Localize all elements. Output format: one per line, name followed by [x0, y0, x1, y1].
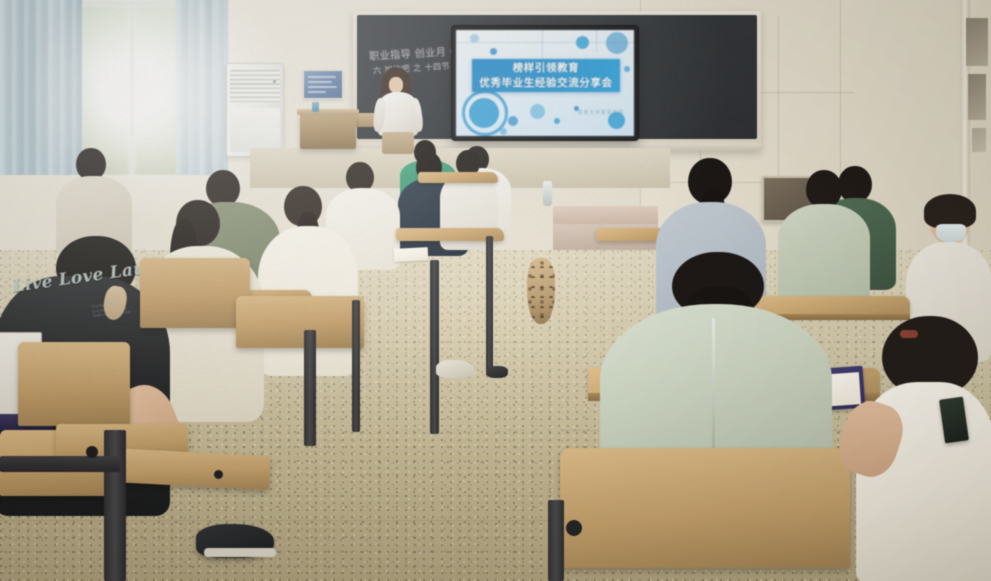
slide-title-line-1: 榜样引领教育	[513, 61, 580, 76]
projection-screen[interactable]: 榜样引领教育 优秀毕业生经验交流分享会 某某大学某某学院	[452, 26, 638, 140]
slide-title-banner: 榜样引领教育 优秀毕业生经验交流分享会	[472, 59, 620, 92]
foreground-student-far-right	[856, 282, 991, 581]
curtain-right	[200, 0, 228, 175]
slide-decor-dot	[469, 98, 499, 128]
seat-back-left-1[interactable]	[18, 342, 130, 426]
slide-title-line-2: 优秀毕业生经验交流分享会	[479, 76, 612, 91]
slide-decor-dot	[530, 104, 545, 119]
leopard-print-backpack[interactable]	[527, 258, 555, 324]
door-panel-upper	[966, 18, 988, 66]
hair-top	[924, 194, 976, 228]
side-counter-top	[553, 206, 658, 226]
desk-tablet-arm[interactable]	[418, 172, 498, 183]
podium	[300, 113, 356, 149]
shoe-sole	[204, 548, 276, 557]
slide-decor-dot	[554, 118, 560, 124]
air-conditioner-unit	[226, 63, 284, 157]
door-handle-plate	[972, 128, 986, 152]
seat-bolt	[86, 446, 98, 458]
slide-decor-dot	[508, 116, 518, 126]
face-mask	[936, 224, 966, 242]
slide-decor-dot	[576, 36, 589, 49]
slide-decor-dot	[624, 66, 630, 72]
classroom-photo: 职业指导 创业月 GG 六 加油吧 之 十四节 榜样引领教育	[0, 0, 991, 581]
seat-back-front-right[interactable]	[560, 448, 850, 568]
slide-credit-text: 某某大学某某学院	[578, 109, 624, 116]
ac-vents-icon	[230, 70, 280, 102]
podium-top	[297, 109, 359, 115]
seat-bolt	[566, 520, 582, 536]
shoe-white	[436, 360, 474, 378]
slide-decor-dot	[490, 48, 497, 55]
water-bottle[interactable]	[543, 181, 552, 206]
seat-bolt	[214, 470, 223, 479]
shoe-dark	[486, 366, 508, 378]
slide-decor-dot	[500, 128, 507, 135]
speaker-face	[389, 77, 403, 93]
papers-on-desk[interactable]	[394, 247, 429, 262]
seat-back-mid-1[interactable]	[140, 258, 250, 328]
slide-decor-dot	[470, 34, 479, 43]
seat-back-mid-2[interactable]	[236, 296, 364, 348]
water-cup	[312, 102, 319, 112]
door-panel-lower	[968, 74, 986, 120]
ac-panel	[230, 108, 280, 152]
wall-notice-poster	[303, 70, 343, 99]
ac-indicator-light	[273, 80, 276, 83]
presentation-slide: 榜样引领教育 优秀毕业生经验交流分享会 某某大学某某学院	[456, 30, 634, 136]
slide-decor-dot	[606, 32, 628, 54]
window-frame-top	[78, 2, 189, 5]
bracelet	[900, 330, 918, 338]
